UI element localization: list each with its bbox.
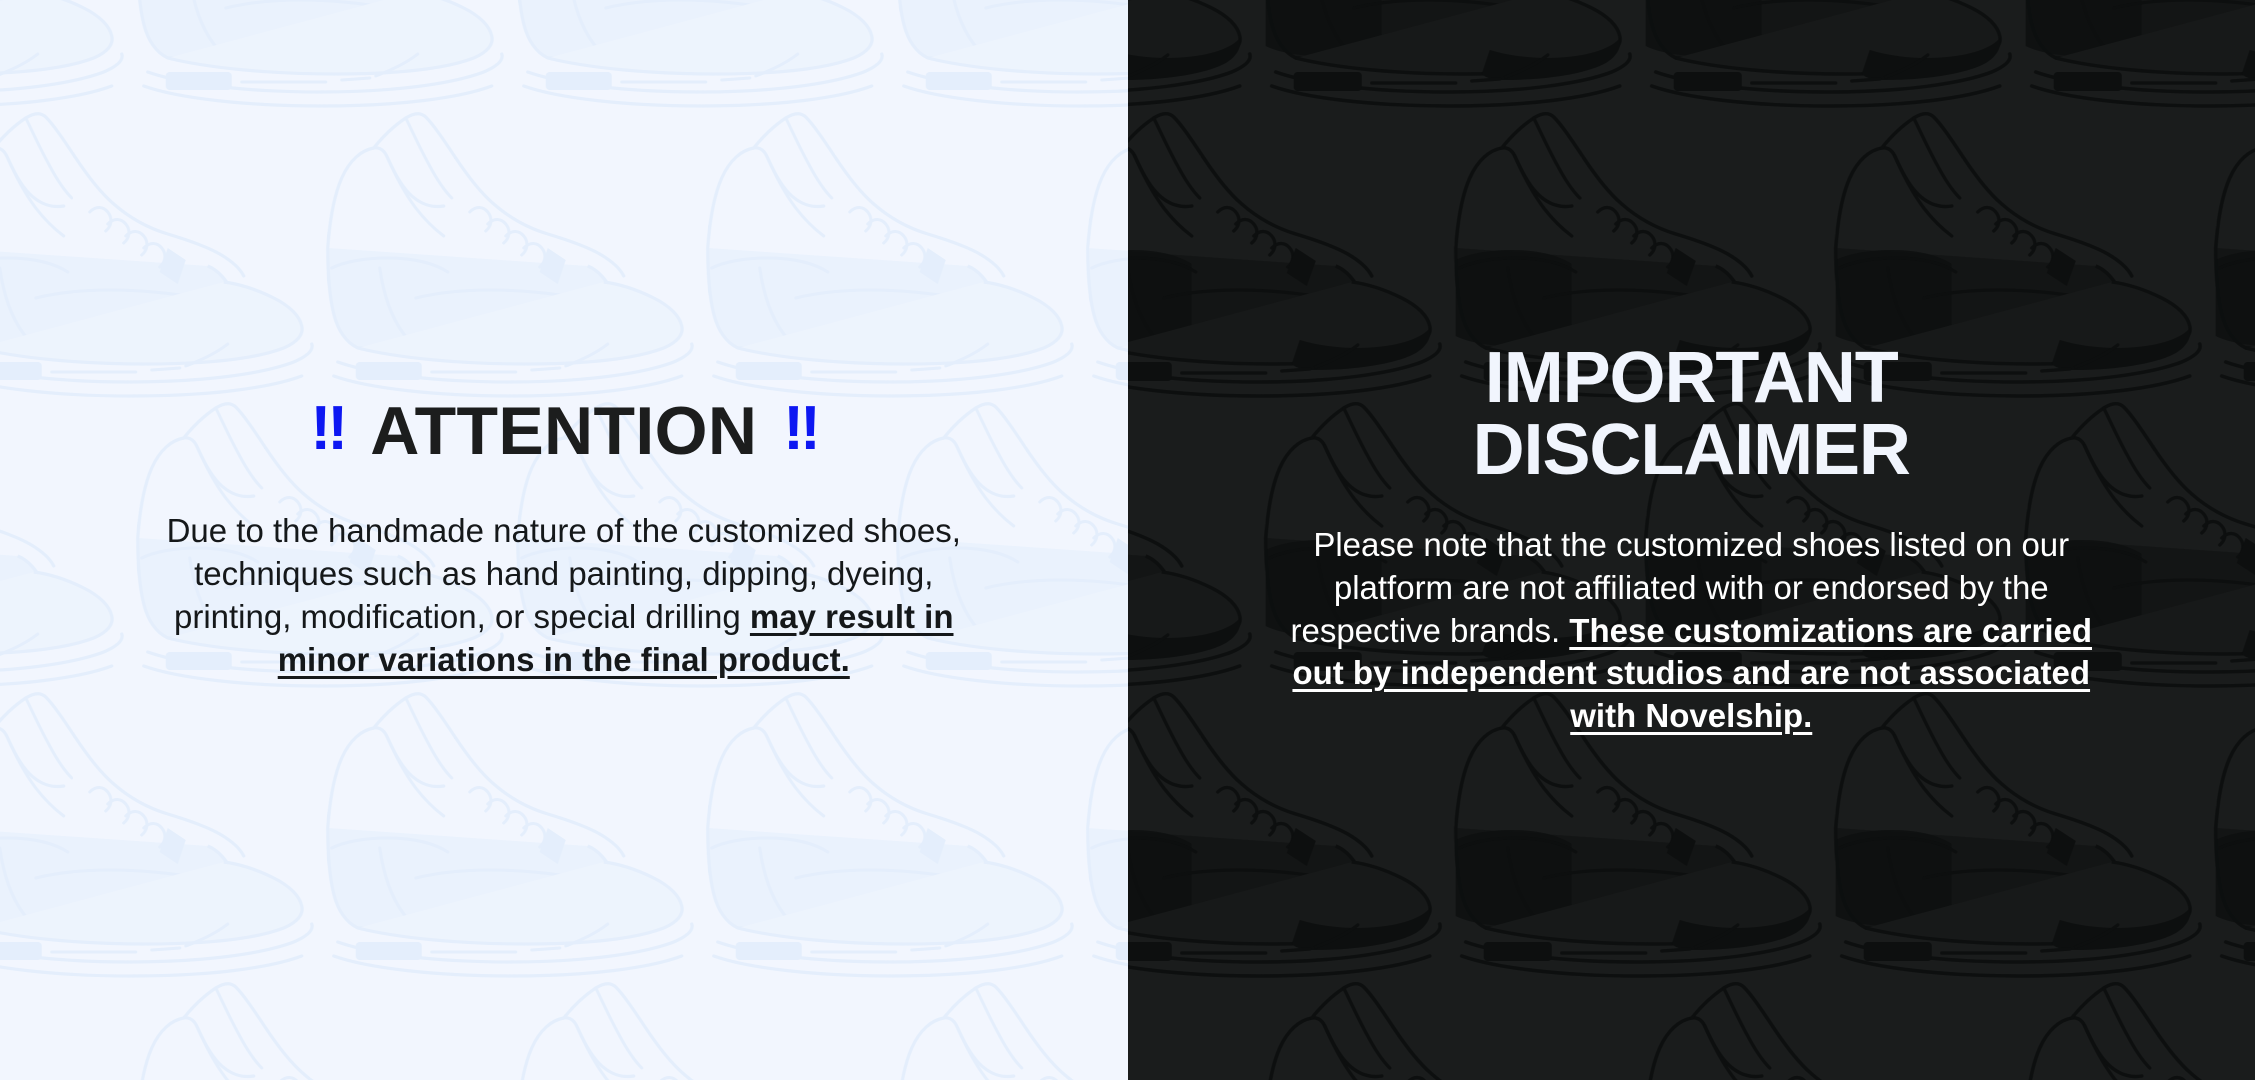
attention-heading: ‼ ATTENTION ‼: [60, 399, 1068, 464]
attention-panel: ‼ ATTENTION ‼ Due to the handmade nature…: [0, 0, 1128, 1080]
dual-panel-banner: ‼ ATTENTION ‼ Due to the handmade nature…: [0, 0, 2255, 1080]
attention-heading-text: ATTENTION: [370, 399, 757, 464]
attention-content: ‼ ATTENTION ‼ Due to the handmade nature…: [0, 399, 1128, 682]
disclaimer-content: IMPORTANT DISCLAIMER Please note that th…: [1128, 342, 2255, 738]
disclaimer-heading-line-2: DISCLAIMER: [1188, 414, 2196, 486]
disclaimer-heading-line-1: IMPORTANT: [1188, 342, 2196, 414]
double-exclamation-left-icon: ‼: [310, 398, 344, 460]
attention-body: Due to the handmade nature of the custom…: [164, 510, 964, 682]
disclaimer-panel: IMPORTANT DISCLAIMER Please note that th…: [1128, 0, 2255, 1080]
double-exclamation-right-icon: ‼: [783, 398, 817, 460]
disclaimer-heading: IMPORTANT DISCLAIMER: [1188, 342, 2196, 486]
disclaimer-body: Please note that the customized shoes li…: [1281, 524, 2101, 738]
